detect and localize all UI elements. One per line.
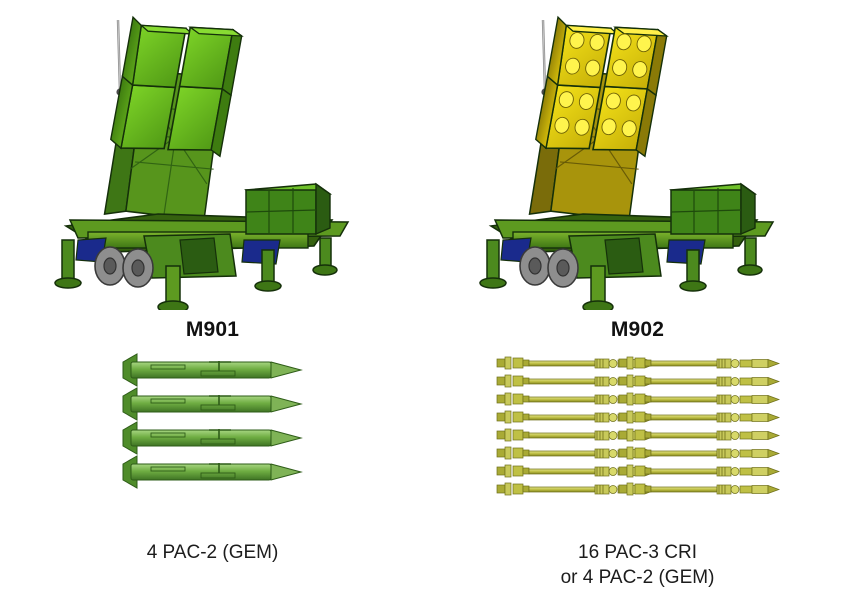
pac-2-missile <box>123 354 301 386</box>
panel-m901: M901 <box>0 0 425 596</box>
pac-3-missile <box>619 375 779 387</box>
m902-launcher-illustration <box>425 14 850 310</box>
trailer-wheels <box>95 247 153 287</box>
m901-launcher-illustration <box>0 14 425 310</box>
m902-launcher-svg <box>473 14 803 310</box>
pac-3-missile <box>619 447 779 459</box>
load-caption-m902: 16 PAC-3 CRI or 4 PAC-2 (GEM) <box>425 540 850 590</box>
trailer-wheels <box>520 247 578 287</box>
pac-2-missile <box>123 422 301 454</box>
load-caption-m901: 4 PAC-2 (GEM) <box>0 540 425 565</box>
pac-3-missile <box>619 465 779 477</box>
pac-2-missile-group <box>0 352 425 517</box>
unit-label-m902: M902 <box>425 318 850 342</box>
pac-3-missile-svg <box>493 352 783 512</box>
equipment-box <box>671 184 755 234</box>
pac-2-missile <box>123 456 301 488</box>
load-caption-line: or 4 PAC-2 (GEM) <box>425 565 850 590</box>
pac-3-missile <box>619 357 779 369</box>
m901-launcher-svg <box>48 14 378 310</box>
pac-3-missile <box>619 411 779 423</box>
unit-label-m901: M901 <box>0 318 425 342</box>
panel-m902: M902 <box>425 0 850 596</box>
pac-3-missile <box>619 483 779 495</box>
launcher-comparison-figure: M901 <box>0 0 850 596</box>
m901-canister-assembly <box>85 14 250 238</box>
load-caption-line: 4 PAC-2 (GEM) <box>0 540 425 565</box>
load-caption-line: 16 PAC-3 CRI <box>425 540 850 565</box>
equipment-box <box>246 184 330 234</box>
pac-2-missile-svg <box>113 352 313 502</box>
m902-canister-assembly <box>510 14 675 238</box>
pac-2-missile <box>123 388 301 420</box>
pac-3-missile <box>619 429 779 441</box>
pac-3-missile-group <box>425 352 850 517</box>
pac-3-missile <box>619 393 779 405</box>
